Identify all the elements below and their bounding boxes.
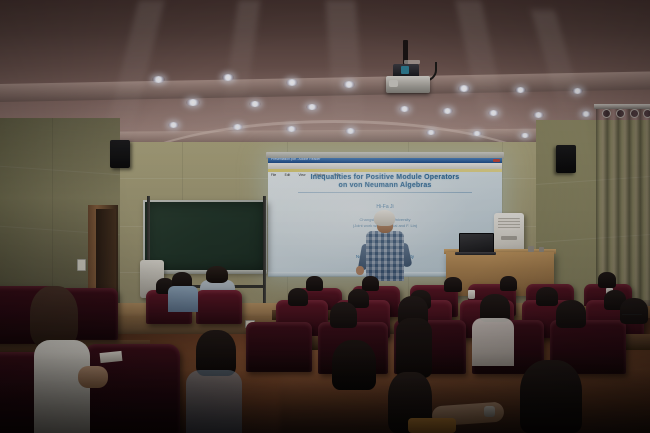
slide-accent-band [268,169,502,172]
audience-head [330,302,357,328]
ceiling-light [186,99,200,106]
curtain-grommet [630,109,639,118]
audience-arm [78,366,108,388]
audience-clothing [408,418,456,433]
ceiling-light [442,108,453,114]
ceiling-light [286,79,298,86]
ceiling-light [533,112,544,118]
air-conditioner-vent [498,218,520,230]
ceiling-light [572,88,583,94]
paper-cup [468,290,475,299]
ceiling-light [152,76,165,83]
close-icon[interactable] [493,159,500,163]
lecturer-torso [366,231,404,281]
slide-title-line2: on von Neumann Algebras [272,182,498,189]
curtain-grommet [643,109,650,118]
wall-speaker-right [556,145,576,173]
ceiling-light [249,101,261,107]
ceiling-light [345,128,356,134]
audience-head [556,300,586,328]
audience-head [536,287,558,306]
seat-back[interactable] [84,344,180,433]
ceiling-light [232,124,243,130]
audience-head [598,272,616,288]
audience-head [500,276,517,291]
lecturer-hand [356,266,364,275]
seat-back[interactable] [196,290,242,324]
audience-head [288,288,308,306]
ceiling-light [306,104,318,110]
seated-person-head [206,266,228,283]
podium-desk-item [528,246,534,252]
ceiling-light [399,106,410,112]
projector-indicator [401,66,409,74]
wall-speaker-left [110,140,130,168]
slide-title-line1: Inequalities for Positive Module Operato… [272,174,498,181]
blackboard-stand-leg [263,196,266,318]
slide-divider [298,192,472,193]
ceiling-light [520,133,530,138]
audience-torso [186,370,242,433]
audience-head [332,340,376,390]
lecture-hall-photo: Presentation.pdf - Adobe Reader File Edi… [0,0,650,433]
ceiling-light [222,74,234,81]
ceiling-light [168,122,179,128]
ceiling-light [458,85,470,92]
ceiling-light [426,130,436,135]
curtain-grommet [602,109,611,118]
laptop-keyboard[interactable] [455,252,496,255]
air-conditioner-badge [501,236,517,240]
audience-hair-long [396,318,432,378]
ceiling-light [343,81,355,88]
audience-head [520,360,582,433]
ceiling-light [515,87,526,93]
audience-torso [472,318,514,366]
wristwatch [484,406,495,417]
audience-head [30,286,78,348]
seat-back[interactable] [246,322,312,372]
pdf-window-title: Presentation.pdf - Adobe Reader [271,158,320,161]
lecturer-head [374,210,395,226]
curtain-grommet [616,109,625,118]
ceiling-light [472,131,482,136]
audience-head [306,276,323,291]
audience-torso [34,340,90,433]
ceiling-light [488,110,499,116]
projector-lens [389,80,398,87]
ceiling-light [581,111,591,117]
audience-head [444,277,462,292]
curtain-rod [594,104,650,109]
audience-head [362,276,379,291]
audience-head [620,298,648,324]
light-switch[interactable] [77,259,86,271]
glasses-icon [622,314,642,318]
podium-desk-item [539,247,544,252]
slide-speaker: Hi-Fa Ji [272,204,498,210]
audience-torso [168,286,198,312]
ceiling-light [286,126,297,132]
